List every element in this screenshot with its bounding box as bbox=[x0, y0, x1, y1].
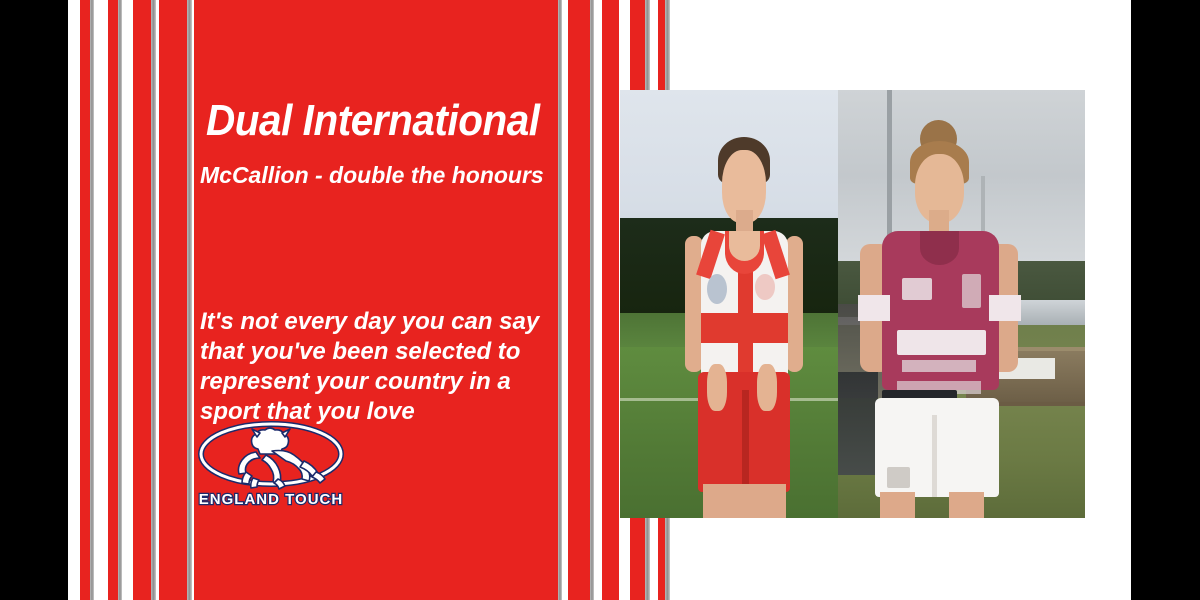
photo-right-sleeve-left bbox=[858, 295, 890, 321]
photo-school-games-rugby-kit bbox=[838, 90, 1085, 518]
photo-left-legs bbox=[703, 484, 786, 518]
stripe-white-2 bbox=[94, 0, 108, 600]
photo-right-equipment bbox=[838, 372, 878, 475]
photo-left-hand-left bbox=[707, 364, 727, 411]
photo-left-neckline-inner bbox=[729, 231, 760, 261]
photo-right-sleeve-right bbox=[989, 295, 1021, 321]
stripe-red-1 bbox=[80, 0, 90, 600]
pull-quote: It's not every day you can say that you'… bbox=[200, 307, 550, 427]
photo-right-canterbury-logo bbox=[902, 278, 932, 299]
stripe-white-3 bbox=[122, 0, 133, 600]
stripe-red-3 bbox=[133, 0, 151, 600]
page-subtitle: McCallion - double the honours bbox=[200, 162, 600, 188]
photo-right-shorts-split bbox=[932, 415, 937, 496]
photo-right-jersey-text-secondary bbox=[902, 360, 976, 373]
red-content-panel bbox=[194, 0, 564, 600]
photo-right-shorts-logo bbox=[887, 467, 909, 488]
photo-left-shorts-split bbox=[742, 390, 749, 493]
photo-left-kit-badge bbox=[707, 274, 727, 304]
photo-touch-england-kit bbox=[620, 90, 838, 518]
stripe-red-2 bbox=[108, 0, 118, 600]
photo-right-leg-left bbox=[880, 492, 915, 518]
photo-left-cross-horizontal bbox=[701, 313, 788, 343]
logo-wordmark: ENGLAND TOUCH bbox=[199, 491, 343, 508]
photo-left-hand-right bbox=[757, 364, 777, 411]
photo-right-leg-right bbox=[949, 492, 984, 518]
poster-canvas: Dual International McCallion - double th… bbox=[0, 0, 1200, 600]
stripe-red-7 bbox=[602, 0, 619, 600]
stripe-red-6 bbox=[568, 0, 590, 600]
photo-left-kit-sponsor bbox=[755, 274, 775, 300]
page-title: Dual International bbox=[206, 98, 574, 144]
photo-left-player-arm-right bbox=[786, 236, 803, 373]
england-touch-logo: ENGLAND TOUCH bbox=[196, 418, 346, 510]
photo-right-england-crest bbox=[962, 274, 982, 308]
stripe-white-7 bbox=[594, 0, 602, 600]
photo-right-jersey-text-primary bbox=[897, 330, 986, 356]
stripe-red-4 bbox=[159, 0, 187, 600]
stripe-white-1 bbox=[68, 0, 80, 600]
